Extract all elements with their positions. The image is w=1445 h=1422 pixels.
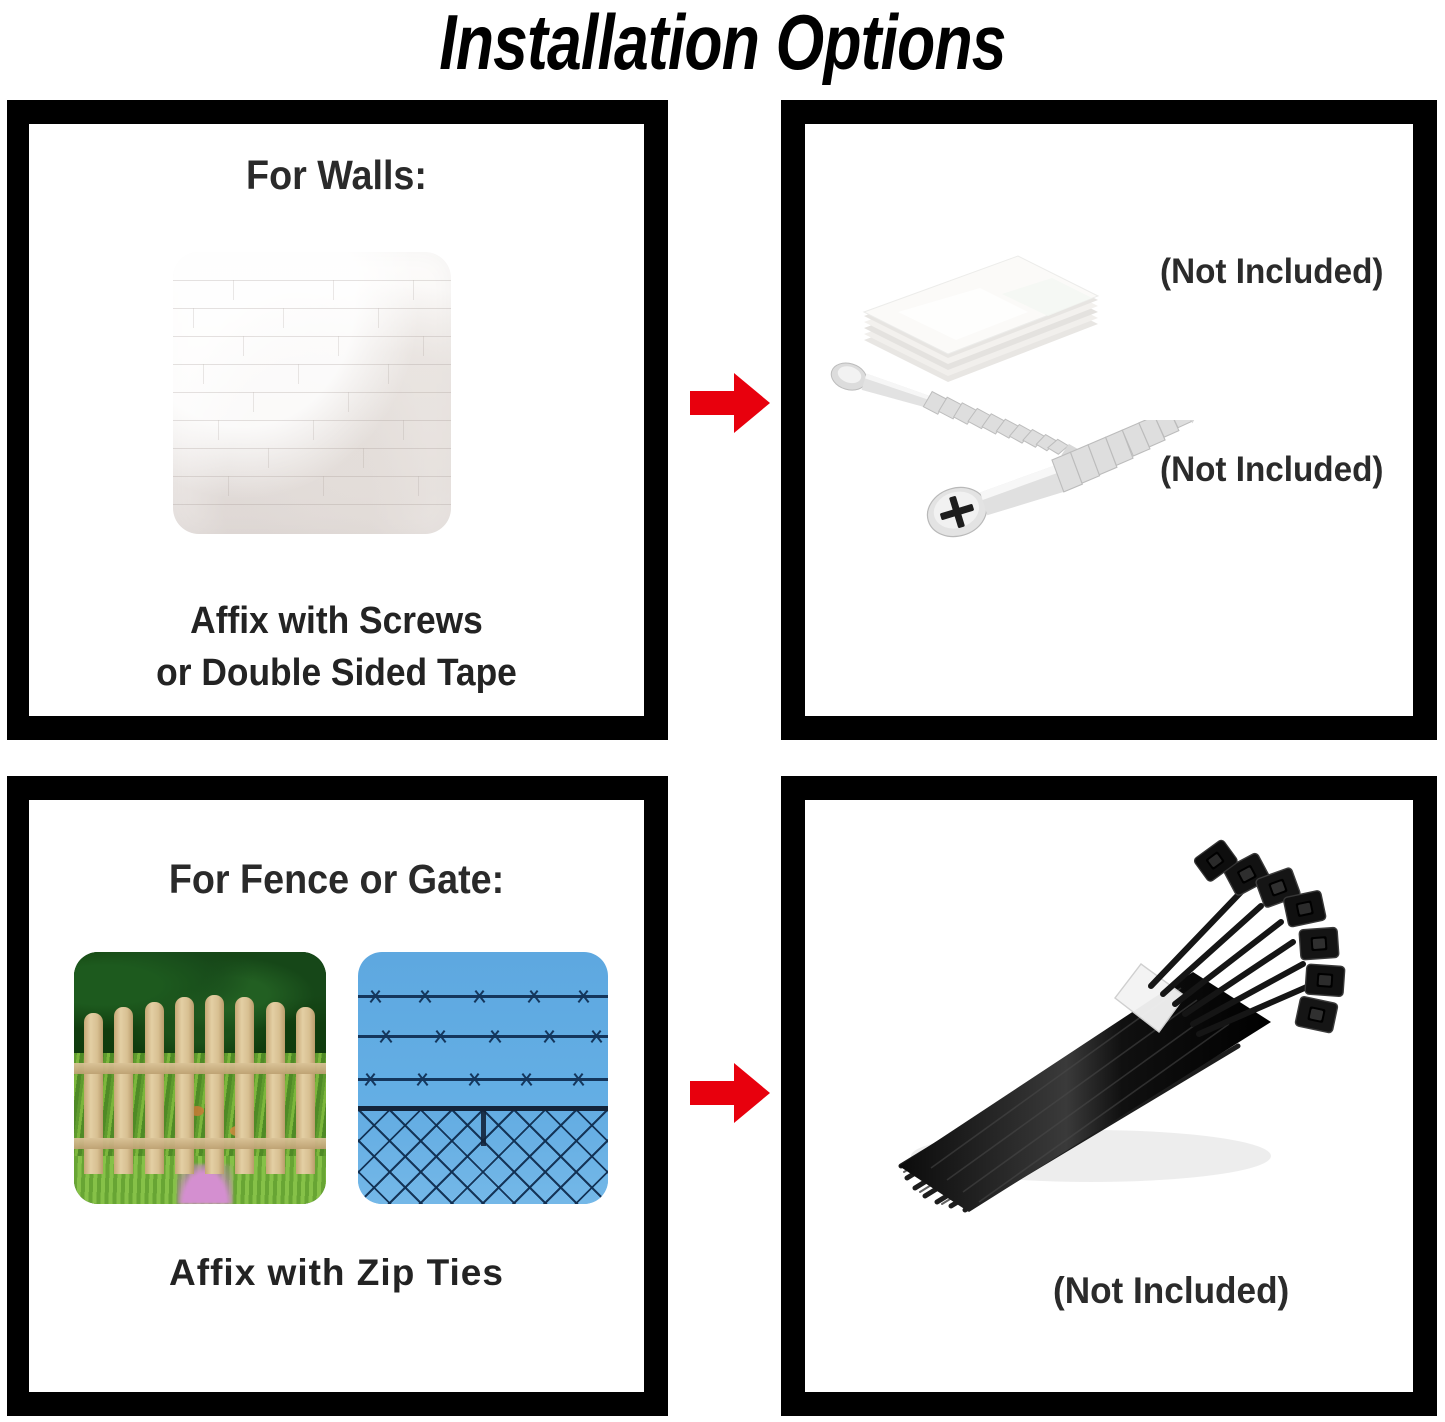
for-walls-caption-line-2: or Double Sided Tape bbox=[51, 652, 623, 695]
ziptie-not-included-label: (Not Included) bbox=[1053, 1270, 1289, 1312]
for-fence-or-gate-heading: For Fence or Gate: bbox=[54, 856, 620, 903]
arrow-right-icon-bottom bbox=[688, 1061, 772, 1125]
chain-link-barbed-wire-fence-photo bbox=[358, 952, 608, 1204]
page-title: Installation Options bbox=[145, 0, 1301, 88]
wooden-picket-fence-photo bbox=[74, 952, 326, 1204]
panel-wall-hardware-content: (Not Included) bbox=[805, 124, 1413, 716]
for-fence-caption-line-1: Affix with Zip Ties bbox=[29, 1252, 644, 1294]
silver-screw-lower bbox=[915, 420, 1245, 565]
panel-for-walls: For Walls: bbox=[7, 100, 668, 740]
panel-fence-hardware: (Not Included) bbox=[781, 776, 1437, 1416]
panel-for-walls-content: For Walls: bbox=[29, 124, 644, 716]
for-walls-caption-line-1: Affix with Screws bbox=[51, 600, 623, 643]
panel-for-fence-or-gate-content: For Fence or Gate: bbox=[29, 800, 644, 1392]
panel-for-fence-or-gate: For Fence or Gate: bbox=[7, 776, 668, 1416]
white-brick-wall-swatch bbox=[173, 252, 451, 534]
for-walls-heading: For Walls: bbox=[54, 152, 620, 199]
panel-wall-hardware: (Not Included) bbox=[781, 100, 1437, 740]
arrow-right-icon-top bbox=[688, 371, 772, 435]
installation-options-graphic: Installation Options For Walls: bbox=[0, 0, 1445, 1422]
black-zip-tie-bundle bbox=[841, 836, 1381, 1236]
screws-not-included-label: (Not Included) bbox=[1160, 450, 1383, 490]
panel-fence-hardware-content: (Not Included) bbox=[805, 800, 1413, 1392]
tape-not-included-label: (Not Included) bbox=[1160, 252, 1383, 292]
